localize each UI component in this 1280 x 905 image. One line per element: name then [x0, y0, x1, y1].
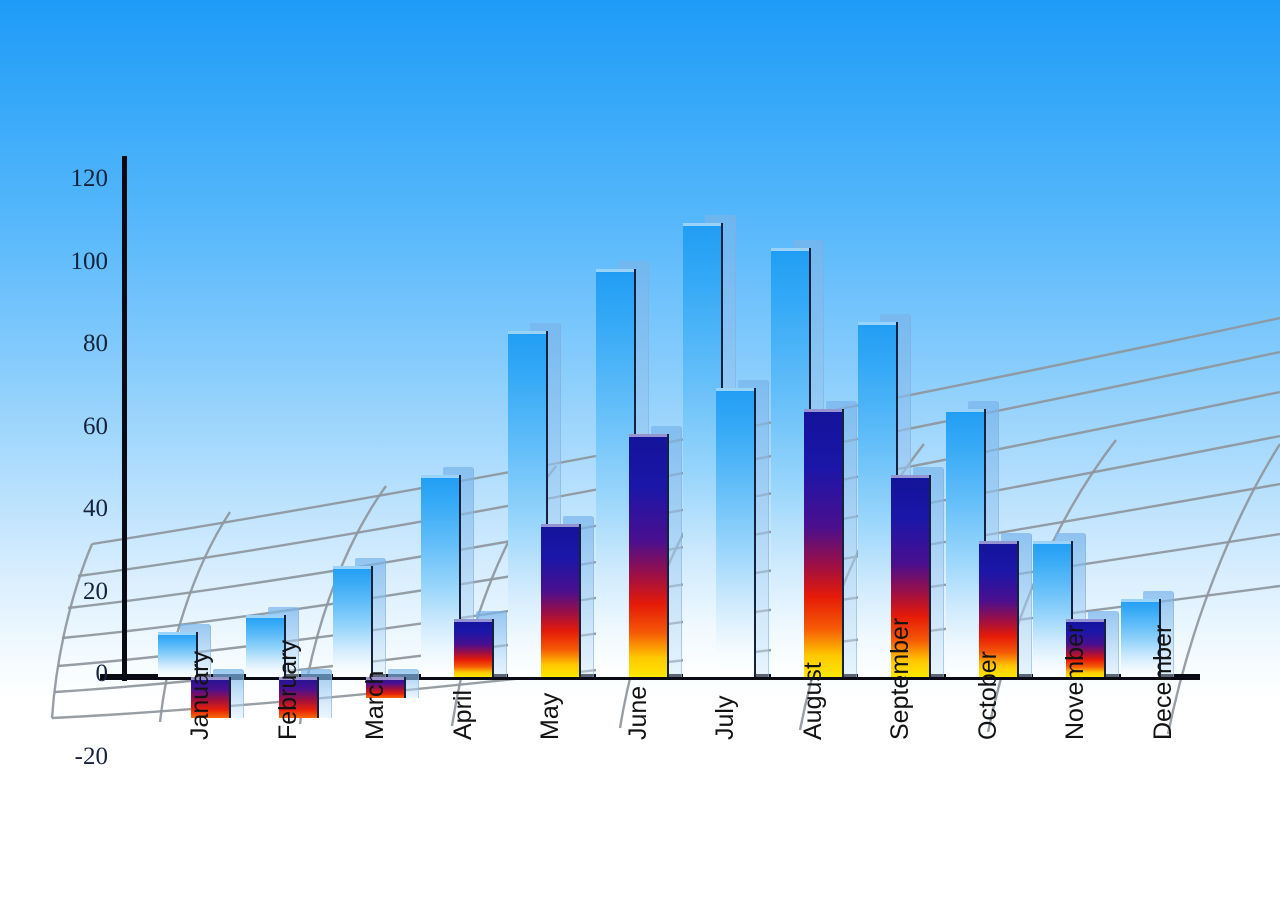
y-tick-label: 60 — [40, 413, 108, 441]
bar-july-series2[interactable] — [716, 388, 754, 677]
bar-june-series2-top-cap — [629, 434, 667, 437]
x-label-october: October — [974, 651, 1003, 740]
y-tick-label: 100 — [40, 248, 108, 276]
y-tick-label: 120 — [40, 165, 108, 193]
bar-november-series2-top-cap — [1066, 619, 1104, 622]
bar-december-series1-top-cap — [1121, 599, 1159, 602]
bar-march-series1[interactable] — [333, 566, 371, 677]
bar-april-series2-face — [454, 619, 494, 677]
bar-may-series2-face — [541, 524, 581, 677]
bar-june-series1-top-cap — [596, 269, 634, 272]
x-label-may: May — [536, 693, 565, 740]
bar-november-series1-top-cap — [1033, 541, 1071, 544]
y-tick-label: 80 — [40, 330, 108, 358]
bar-july-series2-face — [716, 388, 756, 677]
bar-may-series1-top-cap — [508, 331, 546, 334]
bar-march-series1-face — [333, 566, 373, 677]
bar-april-series2-top-cap — [454, 619, 492, 622]
x-label-september: September — [886, 618, 915, 740]
bar-july-series2-top-cap — [716, 388, 754, 391]
bar-may-series2[interactable] — [541, 524, 579, 677]
bar-june-series2[interactable] — [629, 434, 667, 677]
bar-march-series1-top-cap — [333, 566, 371, 569]
bar-april-series1-top-cap — [421, 475, 459, 478]
chart-canvas: 120100806040200-20 JanuaryFebruaryMarchA… — [0, 0, 1280, 905]
bar-february-series1-top-cap — [246, 615, 284, 618]
y-tick-label: -20 — [40, 743, 108, 771]
bar-july-series1-top-cap — [683, 223, 721, 226]
y-tick-label: 40 — [40, 495, 108, 523]
bar-august-series2-top-cap — [804, 409, 842, 412]
x-label-march: March — [361, 671, 390, 740]
plot-area: 120100806040200-20 JanuaryFebruaryMarchA… — [0, 0, 1280, 905]
bar-october-series1-top-cap — [946, 409, 984, 412]
y-tick-label: 20 — [40, 578, 108, 606]
x-label-january: January — [186, 651, 215, 740]
y-tick-label: 0 — [40, 660, 108, 688]
x-label-february: February — [274, 640, 303, 740]
bar-may-series2-top-cap — [541, 524, 579, 527]
bar-june-series2-face — [629, 434, 669, 677]
x-label-august: August — [799, 662, 828, 740]
x-label-june: June — [624, 686, 653, 740]
x-label-july: July — [711, 696, 740, 740]
bar-september-series2-top-cap — [891, 475, 929, 478]
x-label-november: November — [1061, 625, 1090, 740]
bar-august-series2[interactable] — [804, 409, 842, 677]
bar-april-series2[interactable] — [454, 619, 492, 677]
bar-october-series2-top-cap — [979, 541, 1017, 544]
bar-august-series1-top-cap — [771, 248, 809, 251]
y-axis-line — [122, 156, 127, 681]
bar-august-series2-face — [804, 409, 844, 677]
bar-january-series1-top-cap — [158, 632, 196, 635]
bar-september-series1-top-cap — [858, 322, 896, 325]
x-label-april: April — [449, 690, 478, 740]
x-label-december: December — [1149, 625, 1178, 740]
